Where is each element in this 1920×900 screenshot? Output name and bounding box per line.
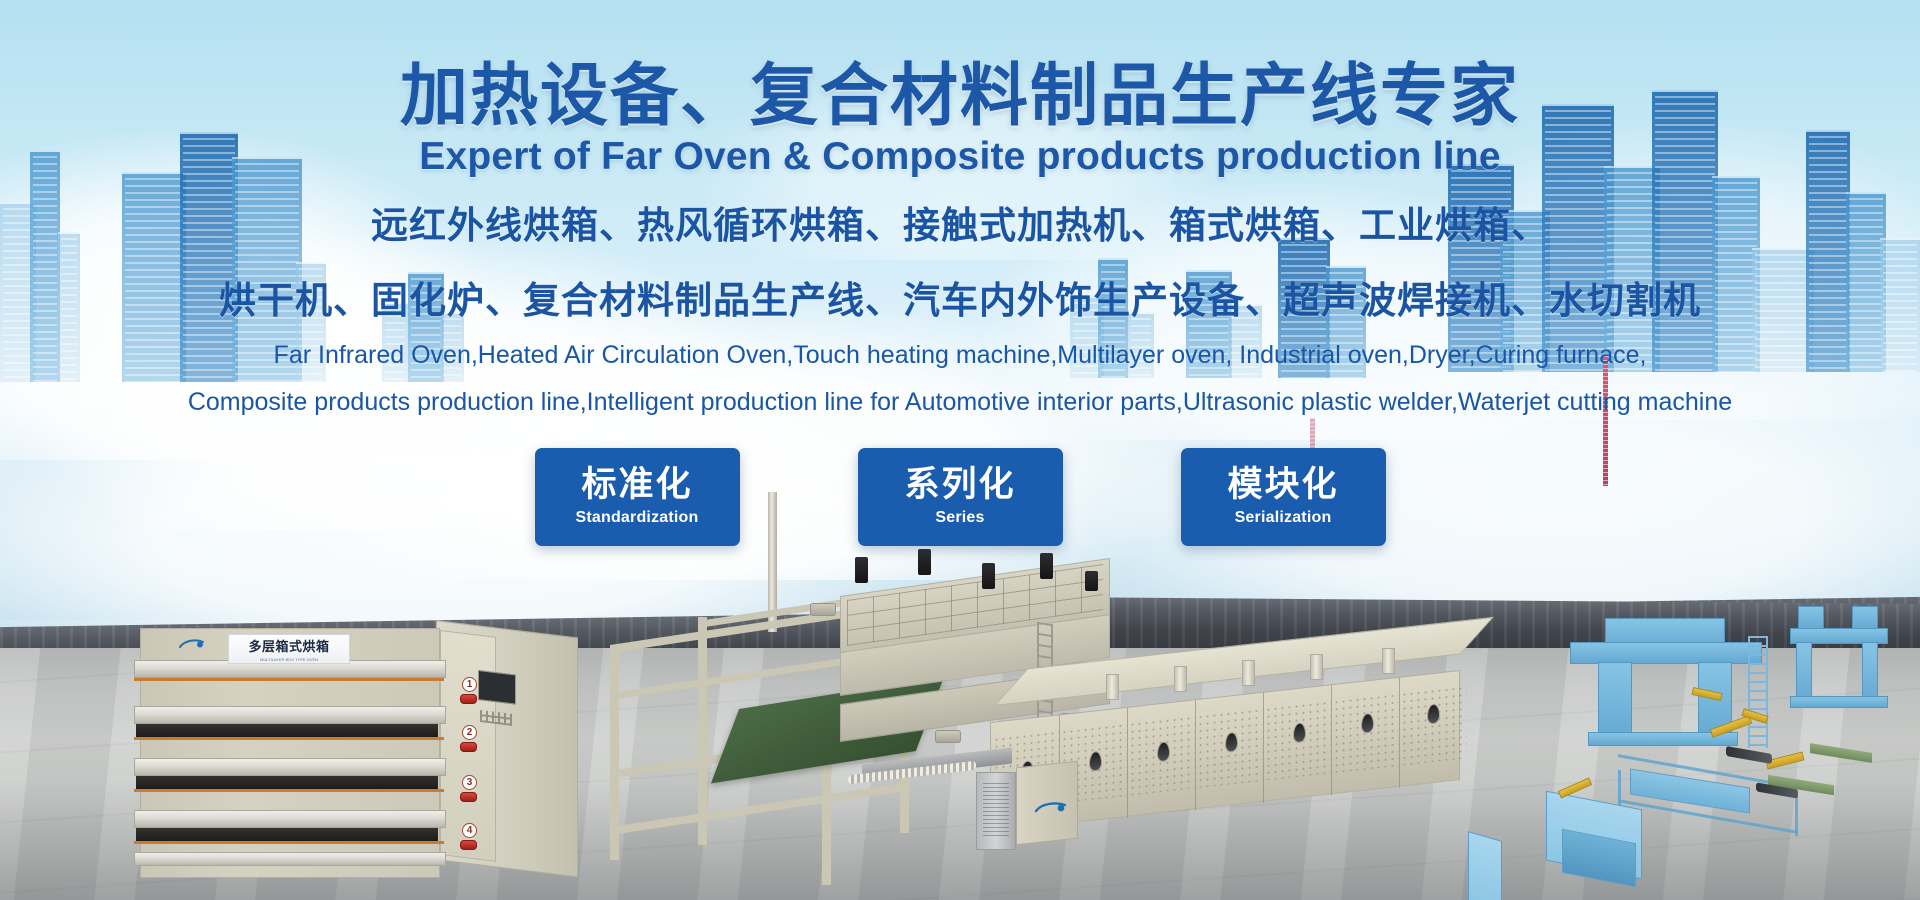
product-list-chinese-line2: 烘干机、固化炉、复合材料制品生产线、汽车内外饰生产设备、超声波焊接机、水切割机 [0, 275, 1920, 328]
oven-indicator-1: 1 [462, 677, 477, 692]
access-ladder [1748, 636, 1768, 748]
mold-insert [1726, 746, 1772, 764]
badge-label-en: Standardization [575, 509, 698, 527]
feature-badge-group: 标准化 Standardization 系列化 Series 模块化 Seria… [0, 448, 1920, 546]
exhaust-stack [1106, 674, 1119, 700]
machine-tunnel-oven [990, 660, 1550, 890]
oven-knob-4[interactable] [460, 840, 477, 850]
product-tray [1810, 743, 1872, 763]
oven-knob-3[interactable] [460, 792, 477, 802]
oven-knob-2[interactable] [460, 742, 477, 752]
gantry-frame [1798, 606, 1824, 630]
machine-multilayer-oven: 1 2 3 4 多层箱式烘箱 MULTILAYER BOX TYPE OVEN [140, 620, 570, 890]
exhaust-stack [1382, 648, 1395, 674]
oven-indicator-4: 4 [462, 823, 477, 838]
brand-logo-icon [1034, 800, 1068, 814]
badge-label-cn: 模块化 [1227, 467, 1338, 504]
badge-serialization[interactable]: 模块化 Serialization [1181, 448, 1386, 546]
oven-knob-1[interactable] [460, 694, 477, 704]
product-list-chinese-line1: 远红外线烘箱、热风循环烘箱、接触式加热机、箱式烘箱、工业烘箱、 [0, 200, 1920, 253]
storage-cabinet [1468, 831, 1502, 900]
exhaust-stack [1310, 654, 1323, 680]
oven-nameplate-subtitle: MULTILAYER BOX TYPE OVEN [260, 657, 318, 662]
brand-logo-icon [170, 638, 214, 662]
oven-indicator-3: 3 [462, 775, 477, 790]
promo-banner: 1 2 3 4 多层箱式烘箱 MULTILAYER BOX TYPE OVEN [0, 0, 1920, 900]
badge-label-en: Series [935, 509, 984, 527]
oven-indicator-2: 2 [462, 725, 477, 740]
headline-english: Expert of Far Oven & Composite products … [0, 137, 1920, 178]
oven-nameplate: 多层箱式烘箱 MULTILAYER BOX TYPE OVEN [228, 634, 350, 664]
control-cabinet [976, 772, 1016, 850]
product-list-english-line2: Composite products production line,Intel… [0, 384, 1920, 420]
exhaust-stack [1242, 660, 1255, 686]
headline-chinese: 加热设备、复合材料制品生产线专家 [0, 62, 1920, 131]
exhaust-stack [1174, 666, 1187, 692]
badge-label-cn: 标准化 [581, 467, 692, 504]
banner-text-block: 加热设备、复合材料制品生产线专家 Expert of Far Oven & Co… [0, 0, 1920, 420]
badge-standardization[interactable]: 标准化 Standardization [535, 448, 740, 546]
machine-blue-automation-line [1510, 600, 1920, 900]
badge-series[interactable]: 系列化 Series [858, 448, 1063, 546]
oven-nameplate-title: 多层箱式烘箱 [248, 636, 329, 655]
oven-display-screen [478, 670, 516, 705]
badge-label-cn: 系列化 [904, 467, 1015, 504]
product-list-english-line1: Far Infrared Oven,Heated Air Circulation… [0, 337, 1920, 373]
badge-label-en: Serialization [1235, 509, 1332, 527]
